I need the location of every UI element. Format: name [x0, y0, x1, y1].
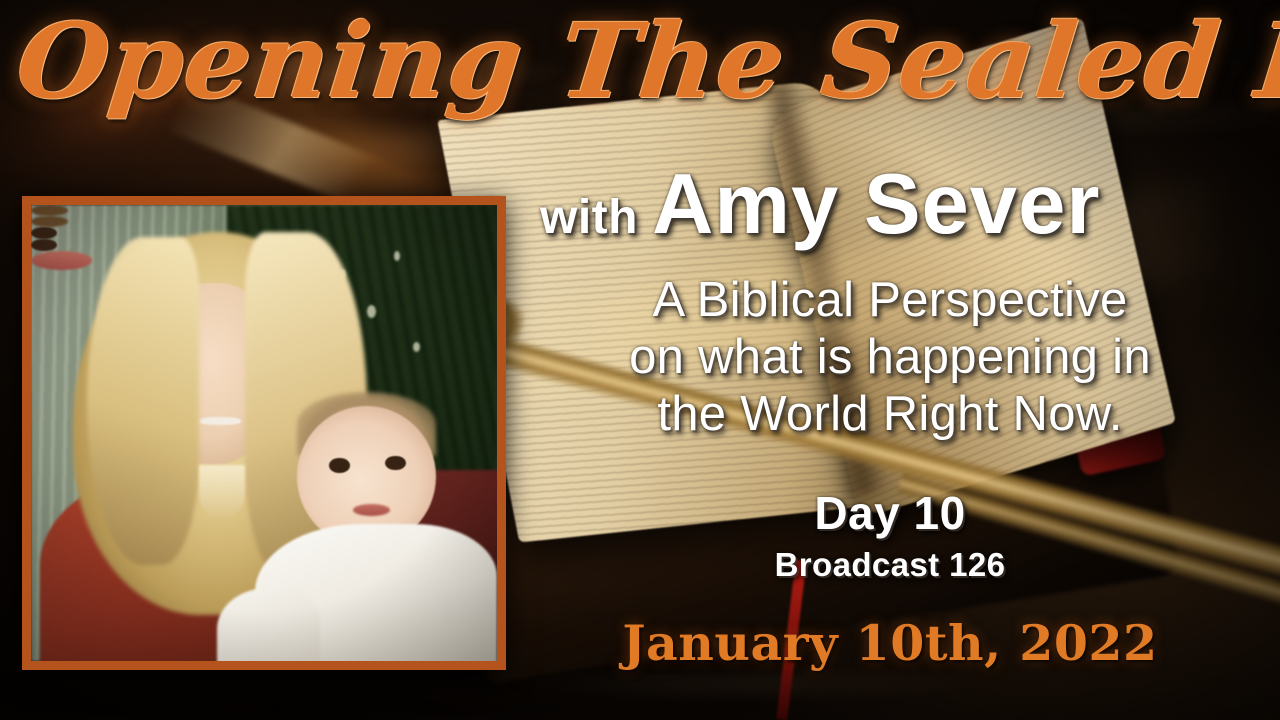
broadcast-date: January 10th, 2022 [540, 614, 1240, 672]
host-photo [31, 205, 497, 661]
host-photo-frame [22, 196, 506, 670]
tagline-line-2: on what is happening in [540, 329, 1240, 386]
host-prefix: with [540, 191, 638, 244]
tagline-line-1: A Biblical Perspective [540, 272, 1240, 329]
show-tagline: A Biblical Perspective on what is happen… [540, 272, 1240, 442]
photo-vignette [31, 205, 497, 661]
show-title: Opening The Sealed Book [12, 4, 1279, 119]
host-line: withAmy Sever [540, 156, 1260, 254]
episode-day-label: Day 10 [540, 486, 1240, 540]
broadcast-number-label: Broadcast 126 [540, 546, 1240, 584]
broadcast-title-card: Opening The Sealed Book withAmy Sever A … [0, 0, 1280, 720]
tagline-line-3: the World Right Now. [540, 386, 1240, 443]
host-name: Amy Sever [652, 157, 1100, 252]
